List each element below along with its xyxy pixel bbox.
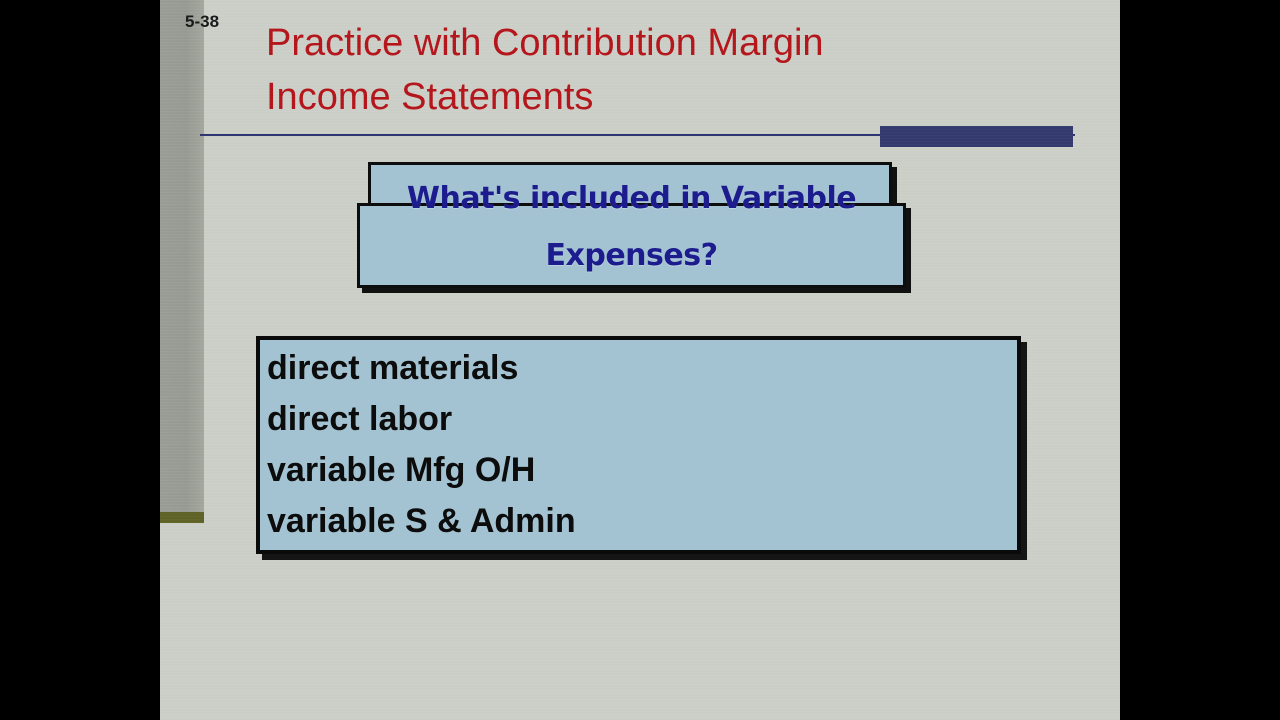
list-item: direct materials: [267, 343, 1007, 394]
slide-number: 5-38: [185, 12, 219, 32]
question-callout-text: What's included in Variable Expenses?: [357, 170, 906, 284]
list-item: direct labor: [267, 394, 1007, 445]
slide-left-band: [160, 0, 204, 522]
list-item: variable Mfg O/H: [267, 445, 1007, 496]
page-title: Practice with Contribution Margin Income…: [266, 16, 1026, 124]
title-accent-bar: [880, 126, 1073, 147]
answer-list: direct materials direct labor variable M…: [267, 343, 1007, 547]
list-item: variable S & Admin: [267, 496, 1007, 547]
presentation-slide: 5-38 Practice with Contribution Margin I…: [160, 0, 1120, 720]
video-letterbox-stage: 5-38 Practice with Contribution Margin I…: [0, 0, 1280, 720]
slide-left-band-accent: [160, 512, 204, 523]
